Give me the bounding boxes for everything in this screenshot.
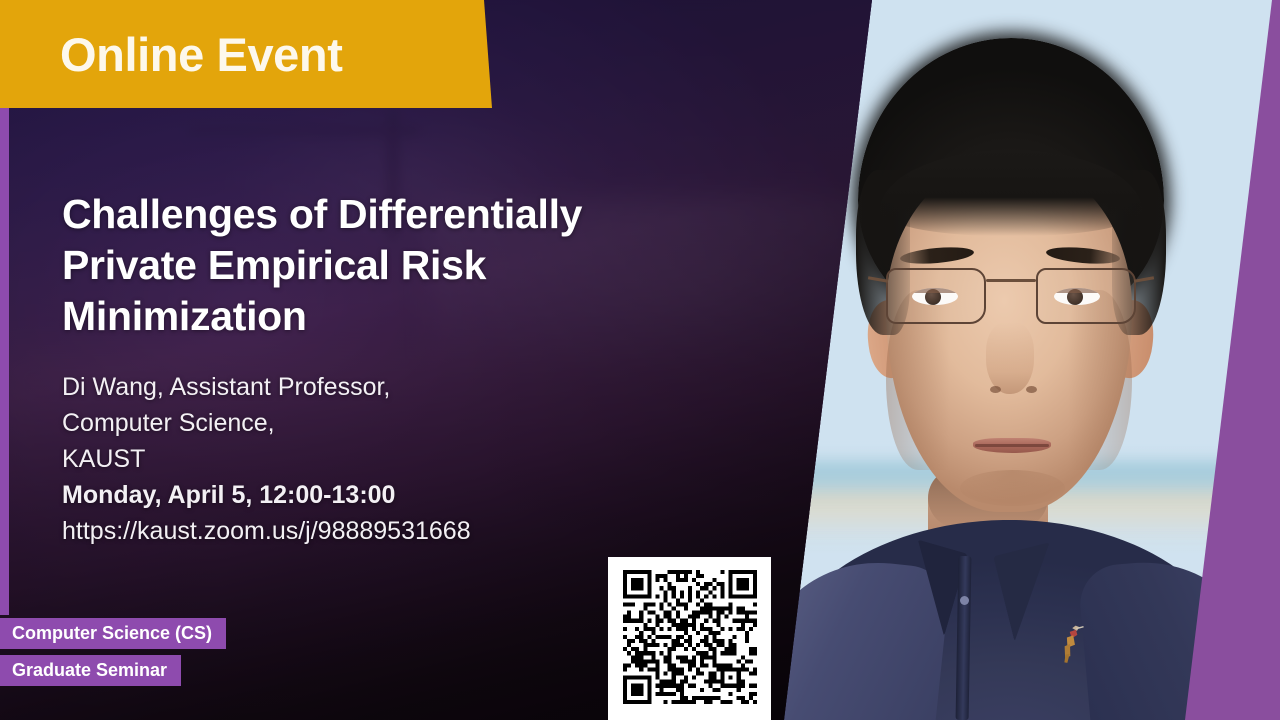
nostril-left (990, 386, 1001, 393)
qr-code[interactable] (623, 570, 757, 704)
speaker-lip-line (975, 444, 1049, 447)
glasses-bridge (986, 279, 1036, 282)
badge-series: Graduate Seminar (0, 655, 181, 686)
speaker-department: Computer Science, (62, 405, 682, 441)
left-accent-strip (0, 107, 9, 615)
lens-right (1036, 268, 1136, 324)
speaker-name-title: Di Wang, Assistant Professor, (62, 369, 682, 405)
speaker-institution: KAUST (62, 441, 682, 477)
talk-title: Challenges of Differentially Private Emp… (62, 189, 702, 341)
badge-department: Computer Science (CS) (0, 618, 226, 649)
qr-code-panel[interactable] (608, 557, 771, 720)
shirt-button (960, 596, 969, 605)
online-event-label: Online Event (60, 31, 342, 78)
eyeglasses-icon (880, 268, 1142, 330)
speaker-nose (986, 322, 1034, 394)
talk-join-url[interactable]: https://kaust.zoom.us/j/98889531668 (62, 513, 682, 549)
speaker-chin-shadow (960, 470, 1065, 506)
talk-details: Di Wang, Assistant Professor, Computer S… (62, 369, 682, 549)
nostril-right (1026, 386, 1037, 393)
talk-datetime: Monday, April 5, 12:00-13:00 (62, 477, 682, 513)
online-event-banner: Online Event (0, 0, 492, 108)
event-poster: Online Event Challenges of Differentiall… (0, 0, 1280, 720)
lens-left (886, 268, 986, 324)
